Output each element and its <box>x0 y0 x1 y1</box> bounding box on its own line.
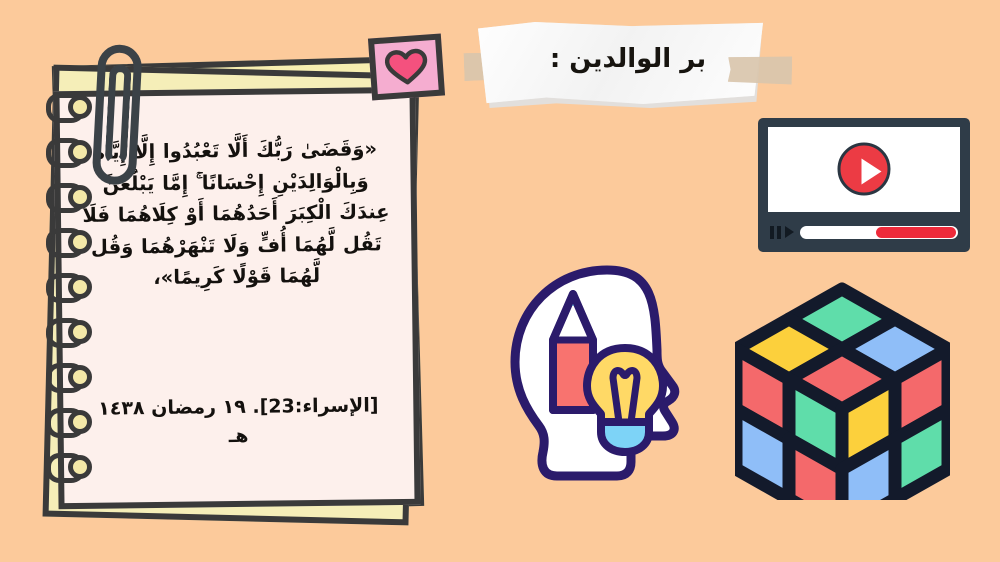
title-banner: بر الوالدين : <box>478 22 778 122</box>
progress-bar[interactable] <box>800 226 958 239</box>
spiral-ring-bead <box>68 230 92 254</box>
spiral-ring <box>46 181 92 217</box>
heart-sticker <box>368 34 445 101</box>
spiral-ring <box>46 226 92 262</box>
pause-icon[interactable] <box>770 226 774 239</box>
slide-canvas: بر الوالدين : «وَقَضَىٰ رَبُّكَ أَلَّا ت… <box>0 0 1000 562</box>
video-controls[interactable] <box>770 223 960 243</box>
spiral-ring <box>46 91 92 127</box>
spiral-ring-bead <box>68 140 92 164</box>
video-player[interactable] <box>758 118 970 252</box>
spiral-ring-bead <box>68 455 92 479</box>
spiral-ring-bead <box>68 320 92 344</box>
rubiks-cube-svg <box>735 275 950 500</box>
spiral-ring <box>46 361 92 397</box>
spiral-ring <box>46 451 92 487</box>
spiral-ring-bead <box>68 95 92 119</box>
spiral-ring <box>46 316 92 352</box>
spiral-ring-bead <box>68 275 92 299</box>
lightbulb-icon <box>587 348 663 452</box>
spiral-ring <box>46 406 92 442</box>
spiral-ring <box>46 136 92 172</box>
rubiks-cube-icon <box>735 275 950 500</box>
notepad: «وَقَضَىٰ رَبُّكَ أَلَّا تَعْبُدُوا إِلَ… <box>40 55 440 525</box>
heart-icon <box>374 40 438 94</box>
pause-icon-bar2[interactable] <box>777 226 781 239</box>
spiral-ring-bead <box>68 410 92 434</box>
head-idea-svg <box>505 262 710 497</box>
paperclip-icon <box>91 44 153 192</box>
head-idea-icon <box>505 262 710 497</box>
spiral-ring-bead <box>68 185 92 209</box>
spiral-ring-bead <box>68 365 92 389</box>
play-icon <box>862 159 882 185</box>
play-button[interactable] <box>838 143 891 196</box>
quote-citation: [الإسراء:23]. ١٩ رمضان ١٤٣٨ <box>77 391 399 423</box>
spiral-ring <box>46 271 92 307</box>
play-small-icon[interactable] <box>785 226 794 238</box>
progress-fill <box>876 227 956 238</box>
tape-right-icon <box>728 55 792 84</box>
quote-citation-suffix: هـ <box>78 423 400 449</box>
